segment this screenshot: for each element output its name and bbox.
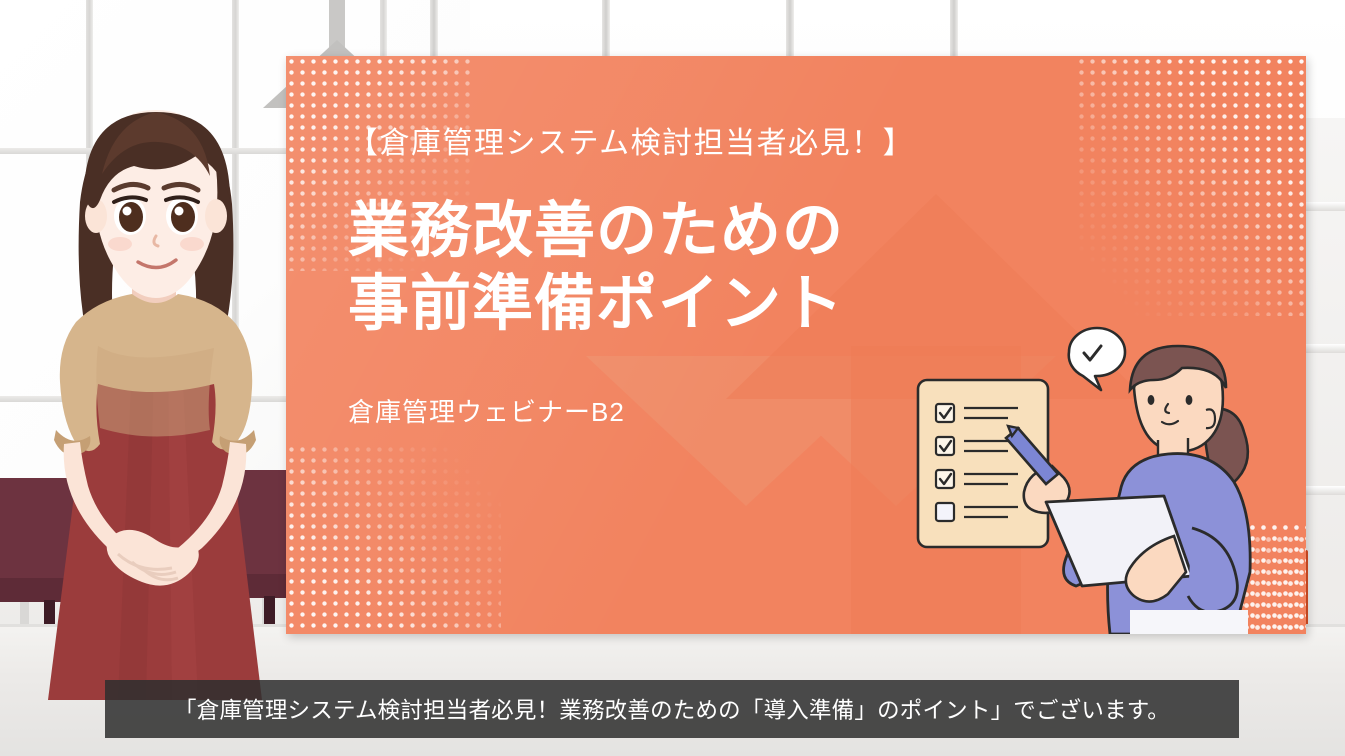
caption-bar: 「倉庫管理システム検討担当者必見！業務改善のための「導入準備」のポイント」でござ… bbox=[105, 680, 1239, 738]
caption-text: 「倉庫管理システム検討担当者必見！業務改善のための「導入準備」のポイント」でござ… bbox=[174, 693, 1170, 725]
slide-headline-line-1: 業務改善のための bbox=[348, 194, 1068, 267]
presentation-slide: 【倉庫管理システム検討担当者必見！】 業務改善のための 事前準備ポイント 倉庫管… bbox=[286, 56, 1306, 634]
slide-headline: 業務改善のための 事前準備ポイント bbox=[348, 194, 1068, 340]
checklist-presenter-illustration bbox=[906, 324, 1306, 634]
presenter-avatar bbox=[14, 84, 296, 706]
halftone-dots-top-right bbox=[1076, 56, 1306, 316]
speech-bubble-check-icon bbox=[1069, 328, 1125, 390]
halftone-dots-bottom-left bbox=[286, 444, 501, 634]
video-frame: 【倉庫管理システム検討担当者必見！】 業務改善のための 事前準備ポイント 倉庫管… bbox=[0, 0, 1345, 756]
slide-eyebrow: 【倉庫管理システム検討担当者必見！】 bbox=[348, 118, 1068, 162]
